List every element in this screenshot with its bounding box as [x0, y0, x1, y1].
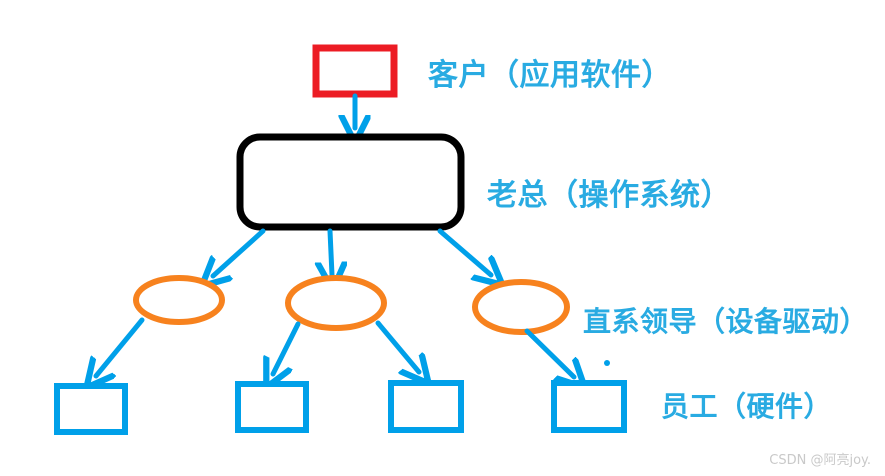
hardware-node-4: [554, 383, 624, 430]
label-hardware: 员工（硬件）: [661, 385, 832, 425]
connector-driver3-to-hardware-4: [527, 331, 574, 377]
hardware-node-2: [238, 384, 306, 430]
device-driver-node-1: [136, 278, 222, 322]
hardware-node-3: [391, 383, 461, 430]
device-driver-node-3: [475, 282, 567, 332]
watermark: CSDN @阿亮joy.: [769, 449, 871, 468]
connector-os-to-driver-3: [440, 231, 491, 275]
label-client: 客户（应用软件）: [428, 50, 672, 94]
connector-os-to-driver-2: [330, 231, 332, 275]
hardware-node-1: [57, 386, 125, 432]
label-operating-system: 老总（操作系统）: [487, 170, 731, 214]
stray-dot-mark: [604, 360, 610, 366]
connector-driver1-to-hardware-1: [96, 320, 142, 376]
connector-driver2-to-hardware-3: [378, 323, 419, 372]
diagram-canvas: 客户（应用软件） 老总（操作系统） 直系领导（设备驱动） 员工（硬件） CSDN…: [0, 0, 885, 476]
device-driver-node-2: [288, 278, 384, 328]
connector-os-to-driver-1: [213, 231, 263, 276]
operating-system-node: [240, 137, 461, 227]
connector-driver2-to-hardware-2: [273, 324, 298, 374]
client-node: [316, 48, 394, 94]
label-device-driver: 直系领导（设备驱动）: [583, 300, 868, 340]
